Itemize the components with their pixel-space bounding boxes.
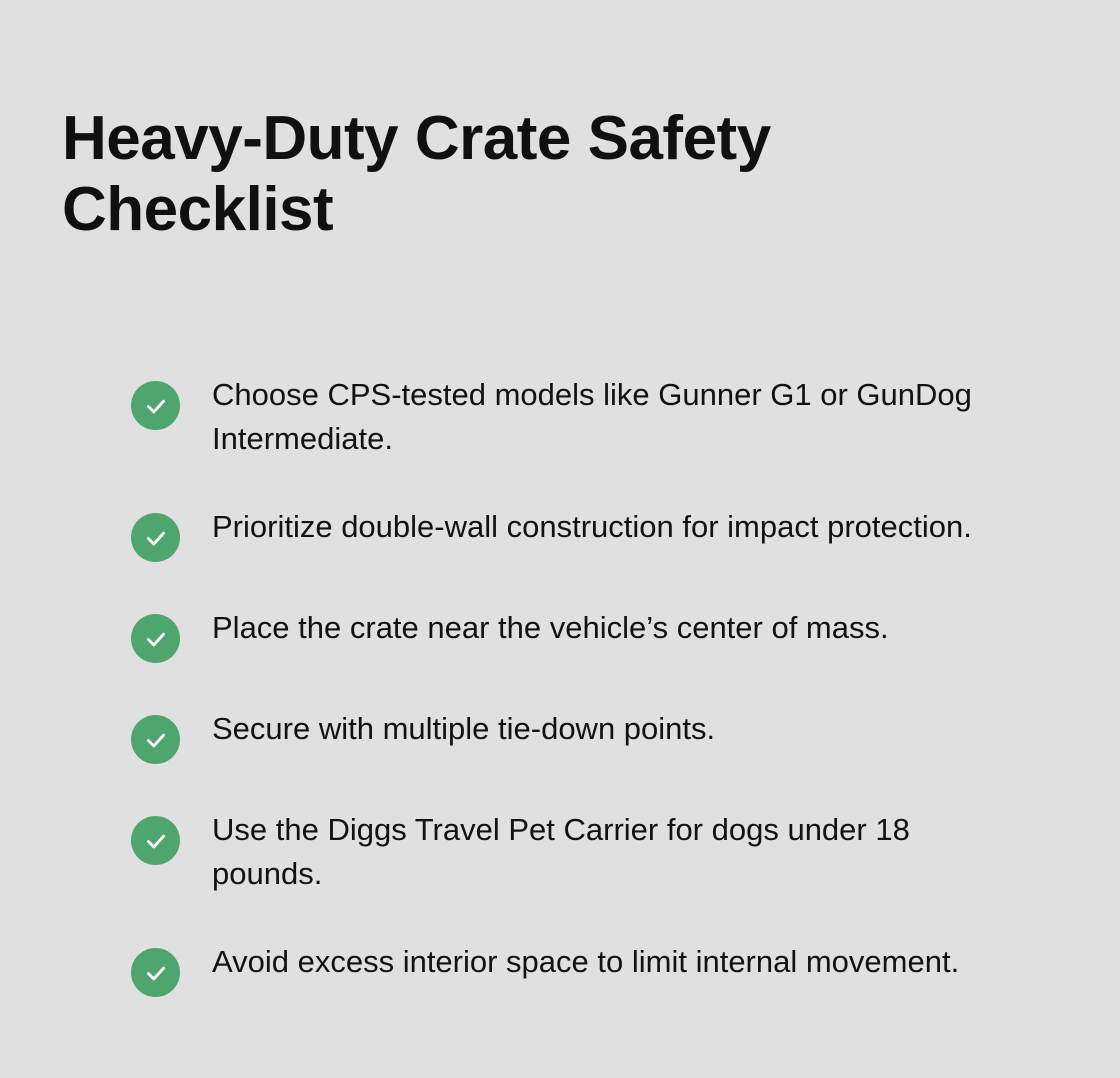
check-circle-icon [131, 513, 180, 562]
list-item: Use the Diggs Travel Pet Carrier for dog… [131, 808, 1081, 896]
list-item-label: Secure with multiple tie-down points. [212, 707, 1024, 751]
check-circle-icon [131, 816, 180, 865]
check-circle-icon [131, 715, 180, 764]
list-item-label: Use the Diggs Travel Pet Carrier for dog… [212, 808, 1024, 896]
check-circle-icon [131, 381, 180, 430]
list-item: Place the crate near the vehicle’s cente… [131, 606, 1081, 663]
checklist: Choose CPS-tested models like Gunner G1 … [131, 373, 1081, 997]
list-item: Avoid excess interior space to limit int… [131, 940, 1081, 997]
list-item: Choose CPS-tested models like Gunner G1 … [131, 373, 1081, 461]
list-item: Prioritize double-wall construction for … [131, 505, 1081, 562]
list-item-label: Place the crate near the vehicle’s cente… [212, 606, 1024, 650]
page-title: Heavy-Duty Crate Safety Checklist [62, 103, 942, 246]
list-item-label: Prioritize double-wall construction for … [212, 505, 1024, 549]
checklist-infographic: Heavy-Duty Crate Safety Checklist Choose… [0, 0, 1120, 1078]
list-item: Secure with multiple tie-down points. [131, 707, 1081, 764]
check-circle-icon [131, 614, 180, 663]
list-item-label: Choose CPS-tested models like Gunner G1 … [212, 373, 1024, 461]
check-circle-icon [131, 948, 180, 997]
list-item-label: Avoid excess interior space to limit int… [212, 940, 1024, 984]
